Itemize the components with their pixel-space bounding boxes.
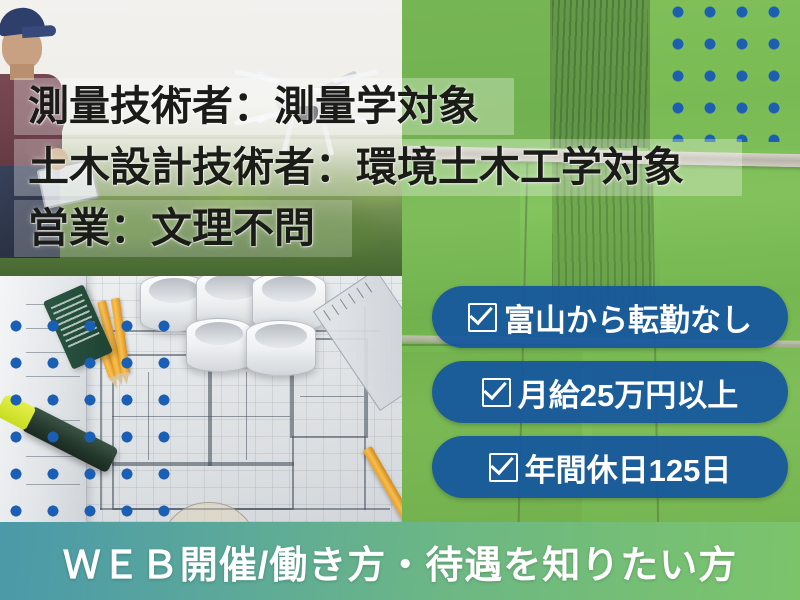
- benefit-badge-holidays-label: 年間休日125日: [525, 445, 732, 490]
- checkbox-checked-icon: [489, 453, 518, 482]
- headline-line-2-text: 土木設計技術者：環境土木工学対象: [28, 144, 684, 190]
- plan-line: [100, 508, 390, 510]
- recruitment-ad-banner: 測量技術者：測量学対象 土木設計技術者：環境土木工学対象 営業：文理不問 富山か…: [0, 0, 800, 600]
- benefit-badge-holidays: 年間休日125日: [432, 436, 788, 498]
- bottom-banner-text: ＷＥＢ開催/働き方・待遇を知りたい方: [63, 534, 738, 589]
- plan-line: [112, 416, 290, 417]
- benefit-badge-relocation: 富山から転勤なし: [432, 286, 788, 348]
- plan-line: [300, 396, 364, 397]
- checkbox-checked-icon: [468, 303, 497, 332]
- rolled-blueprint: [246, 320, 316, 376]
- cap-brim: [22, 25, 57, 38]
- benefit-badge-relocation-label: 富山から転勤なし: [504, 295, 752, 340]
- benefit-badge-salary: 月給25万円以上: [432, 361, 788, 423]
- headline-line-3-text: 営業：文理不問: [28, 205, 315, 251]
- rolled-blueprint: [186, 318, 252, 372]
- headline-line-3: 営業：文理不問: [0, 198, 800, 259]
- headline-line-1-text: 測量技術者：測量学対象: [28, 83, 479, 129]
- headline-line-2: 土木設計技術者：環境土木工学対象: [0, 137, 800, 198]
- headline-line-1: 測量技術者：測量学対象: [0, 76, 800, 137]
- headline-block: 測量技術者：測量学対象 土木設計技術者：環境土木工学対象 営業：文理不問: [0, 76, 800, 259]
- benefit-badge-salary-label: 月給25万円以上: [518, 370, 738, 415]
- checkbox-checked-icon: [482, 378, 511, 407]
- benefit-badge-list: 富山から転勤なし 月給25万円以上 年間休日125日: [432, 286, 788, 498]
- bottom-banner: ＷＥＢ開催/働き方・待遇を知りたい方: [0, 522, 800, 600]
- blueprint-drawings-photo: [0, 276, 402, 522]
